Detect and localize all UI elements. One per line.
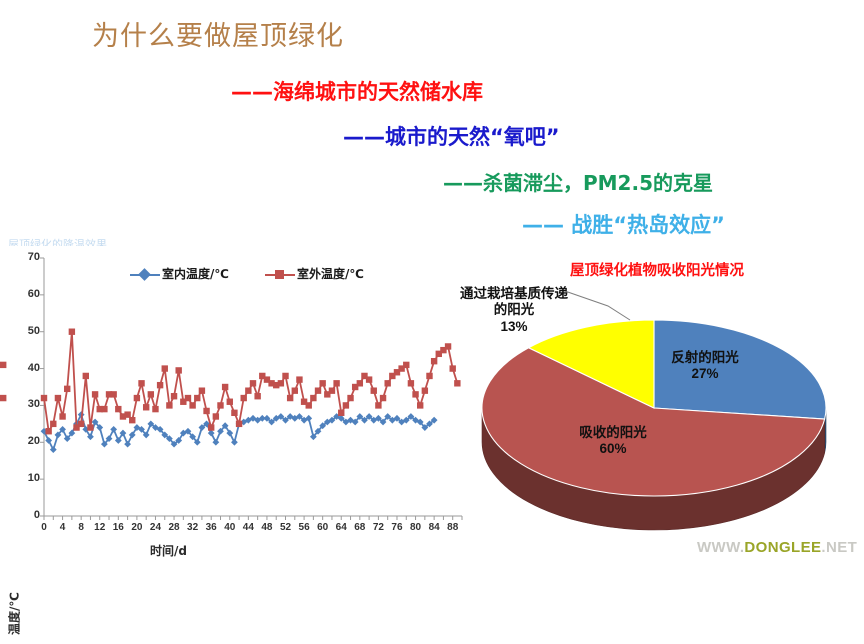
line-chart-y-axis-title: 温度/℃ (6, 584, 23, 644)
watermark-suffix: .NET (821, 539, 857, 556)
subtitle-line-3: ——杀菌滞尘，PM2.5的克星 (443, 167, 713, 196)
indoor-outdoor-temperature-line-chart: 温度/℃ 010203040506070 0481216202428323640… (0, 250, 470, 560)
pie-label-reflected: 反射的阳光 27% (666, 350, 744, 383)
watermark: WWW.DONGLEE.NET (697, 539, 857, 556)
pie-leader-line (562, 290, 630, 320)
pie-label-transmitted-value: 13% (460, 319, 568, 335)
subtitle-line-4: —— 战胜“热岛效应” (522, 209, 725, 239)
line-chart-plot (0, 250, 470, 550)
pie-label-absorbed: 吸收的阳光 60% (570, 425, 656, 458)
pie-label-transmitted-text: 通过栽培基质传递的阳光 (460, 286, 568, 318)
page-title: 为什么要做屋顶绿化 (92, 14, 344, 53)
slide-canvas: 为什么要做屋顶绿化 ——海绵城市的天然储水库 ——城市的天然“氧吧” ——杀菌滞… (0, 0, 864, 568)
pie-label-reflected-text: 反射的阳光 (671, 350, 739, 366)
pie-label-reflected-value: 27% (666, 366, 744, 382)
pie-label-absorbed-text: 吸收的阳光 (579, 425, 647, 441)
pie-label-absorbed-value: 60% (570, 441, 656, 457)
subtitle-line-2: ——城市的天然“氧吧” (343, 121, 560, 151)
pie-label-transmitted: 通过栽培基质传递的阳光 13% (460, 286, 568, 335)
sunlight-absorption-pie-chart: 屋顶绿化植物吸收阳光情况 通过栽培基质传递的阳光 13% 反射的阳光 27% 吸… (458, 250, 864, 568)
watermark-brand: DONGLEE (744, 539, 821, 556)
watermark-prefix: WWW. (697, 539, 744, 556)
subtitle-line-1: ——海绵城市的天然储水库 (231, 76, 483, 106)
clipped-text-remnant: 屋顶绿化的降温效果 (8, 236, 248, 246)
